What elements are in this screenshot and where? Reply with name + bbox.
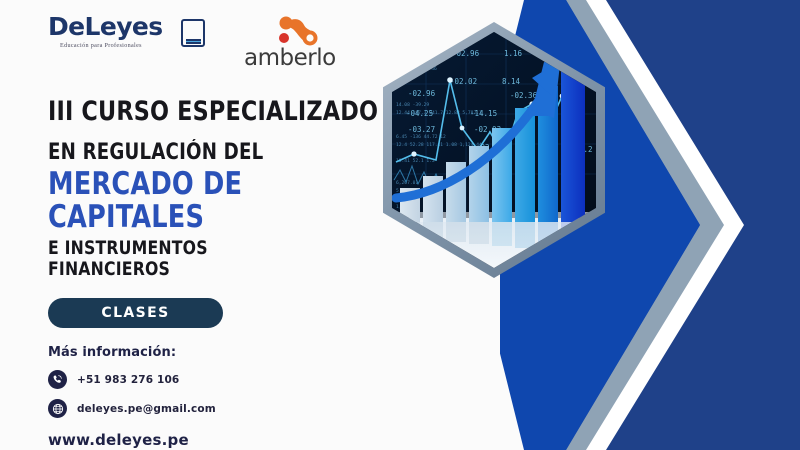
content-column: DeLeyes Educación para Profesionales a (0, 0, 420, 450)
deleyes-logo: DeLeyes Educación para Profesionales (48, 14, 198, 49)
contact-email-row[interactable]: deleyes.pe@gmail.com (48, 399, 420, 418)
headline-line-1: III CURSO ESPECIALIZADO (48, 98, 390, 125)
contact-block: Más información: +51 983 276 106 (48, 345, 420, 449)
book-icon (180, 19, 206, 49)
contact-website[interactable]: www.deleyes.pe (48, 431, 420, 449)
molecule-icon (274, 16, 320, 46)
phone-icon (48, 370, 67, 389)
headline: III CURSO ESPECIALIZADO EN REGULACIÓN DE… (48, 98, 420, 279)
headline-line-4: CAPITALES (48, 202, 390, 233)
headline-line-6: FINANCIEROS (48, 260, 390, 279)
deleyes-tagline: Educación para Profesionales (60, 43, 198, 49)
amberlo-wordmark: amberlo (244, 47, 359, 70)
svg-text:-02.36: -02.36 (510, 91, 538, 100)
logo-row: DeLeyes Educación para Profesionales a (48, 14, 420, 76)
globe-icon (48, 399, 67, 418)
svg-text:8.14: 8.14 (502, 77, 521, 86)
headline-line-5: E INSTRUMENTOS (48, 239, 390, 258)
headline-line-2: EN REGULACIÓN DEL (48, 142, 390, 164)
clases-button[interactable]: CLASES (48, 298, 223, 328)
clases-button-label: CLASES (101, 305, 169, 321)
promo-banner: -02.96 1.16 -04 -02.02 8.14 -02.96 -02.3… (0, 0, 800, 450)
headline-line-3: MERCADO DE (48, 169, 390, 200)
contact-phone: +51 983 276 106 (77, 374, 179, 386)
svg-text:-04: -04 (558, 49, 572, 58)
amberlo-logo: amberlo (244, 14, 359, 70)
contact-email: deleyes.pe@gmail.com (77, 403, 216, 415)
contact-title: Más información: (48, 345, 420, 360)
deleyes-wordmark: DeLeyes (48, 14, 163, 39)
svg-text:-02.02: -02.02 (450, 77, 477, 86)
svg-text:1.16: 1.16 (504, 49, 523, 58)
contact-phone-row[interactable]: +51 983 276 106 (48, 370, 420, 389)
